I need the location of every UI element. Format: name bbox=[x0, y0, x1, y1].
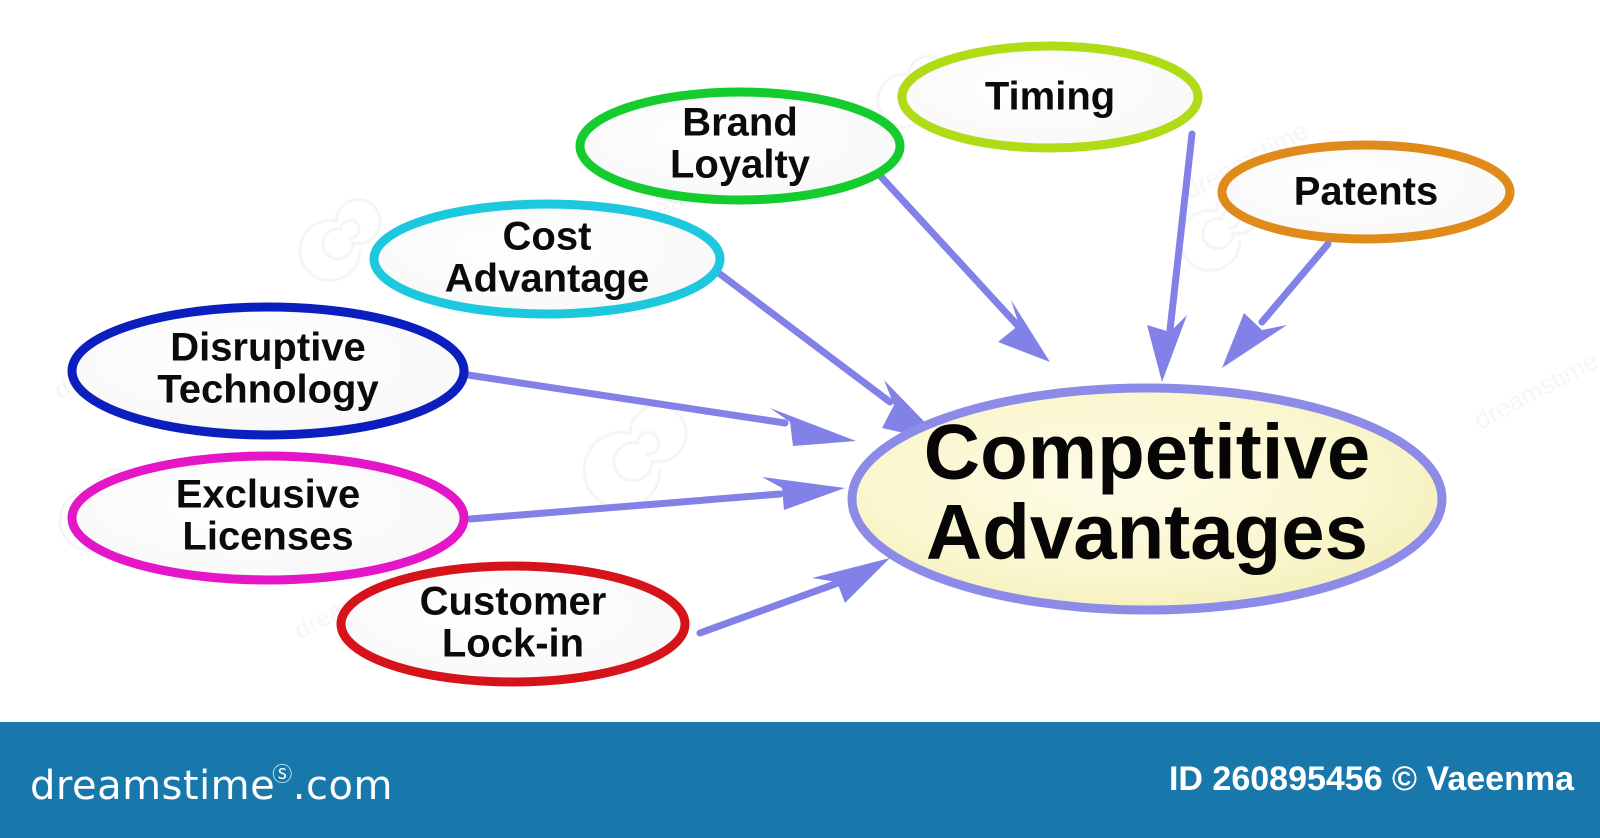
node-competitive-advantages[interactable]: Competitive Advantages bbox=[852, 388, 1442, 610]
node-patents[interactable]: Patents bbox=[1222, 145, 1510, 239]
arrow-patents-to-hub bbox=[1222, 244, 1328, 368]
node-exclusive-licenses[interactable]: Exclusive Licenses bbox=[72, 456, 464, 580]
node-timing[interactable]: Timing bbox=[902, 46, 1198, 148]
cost-advantage-label-line1: Cost bbox=[503, 215, 592, 259]
customer-lock-in-label-line2: Lock-in bbox=[442, 622, 584, 666]
brand-loyalty-label-line1: Brand bbox=[682, 101, 798, 145]
disruptive-technology-label-line2: Technology bbox=[157, 368, 379, 412]
node-customer-lock-in[interactable]: Customer Lock-in bbox=[341, 566, 685, 682]
arrow-disruptive-technology-to-hub bbox=[468, 375, 856, 446]
competitive-advantages-diagram: dreamstime dreamstime dreamstime dreamst… bbox=[0, 0, 1600, 838]
node-cost-advantage[interactable]: Cost Advantage bbox=[374, 204, 720, 314]
hub-label-line2: Advantages bbox=[926, 488, 1368, 576]
customer-lock-in-label-line1: Customer bbox=[420, 580, 607, 624]
image-credit: ID 260895456 © Vaeenma bbox=[1169, 760, 1574, 799]
patents-label: Patents bbox=[1294, 170, 1439, 214]
node-disruptive-technology[interactable]: Disruptive Technology bbox=[72, 307, 464, 435]
arrow-brand-loyalty-to-hub bbox=[873, 168, 1050, 362]
exclusive-licenses-label-line2: Licenses bbox=[182, 515, 353, 559]
hub-label-line1: Competitive bbox=[924, 408, 1370, 496]
diagram-canvas: dreamstime dreamstime dreamstime dreamst… bbox=[0, 0, 1600, 838]
cost-advantage-label-line2: Advantage bbox=[445, 257, 650, 301]
disruptive-technology-label-line1: Disruptive bbox=[170, 326, 366, 370]
dreamstime-logo-suffix: .com bbox=[293, 763, 393, 809]
arrow-customer-lock-in-to-hub bbox=[700, 558, 890, 633]
brand-loyalty-label-line2: Loyalty bbox=[670, 143, 811, 187]
dreamstime-logo[interactable]: dreamstimeⓈ.com bbox=[30, 758, 393, 809]
svg-text:dreamstime: dreamstime bbox=[1469, 345, 1600, 435]
dreamstime-logo-text: dreamstime bbox=[30, 763, 275, 809]
exclusive-licenses-label-line1: Exclusive bbox=[176, 473, 361, 517]
node-brand-loyalty[interactable]: Brand Loyalty bbox=[580, 92, 900, 200]
timing-label: Timing bbox=[985, 75, 1115, 119]
registered-mark-icon: Ⓢ bbox=[272, 762, 293, 786]
